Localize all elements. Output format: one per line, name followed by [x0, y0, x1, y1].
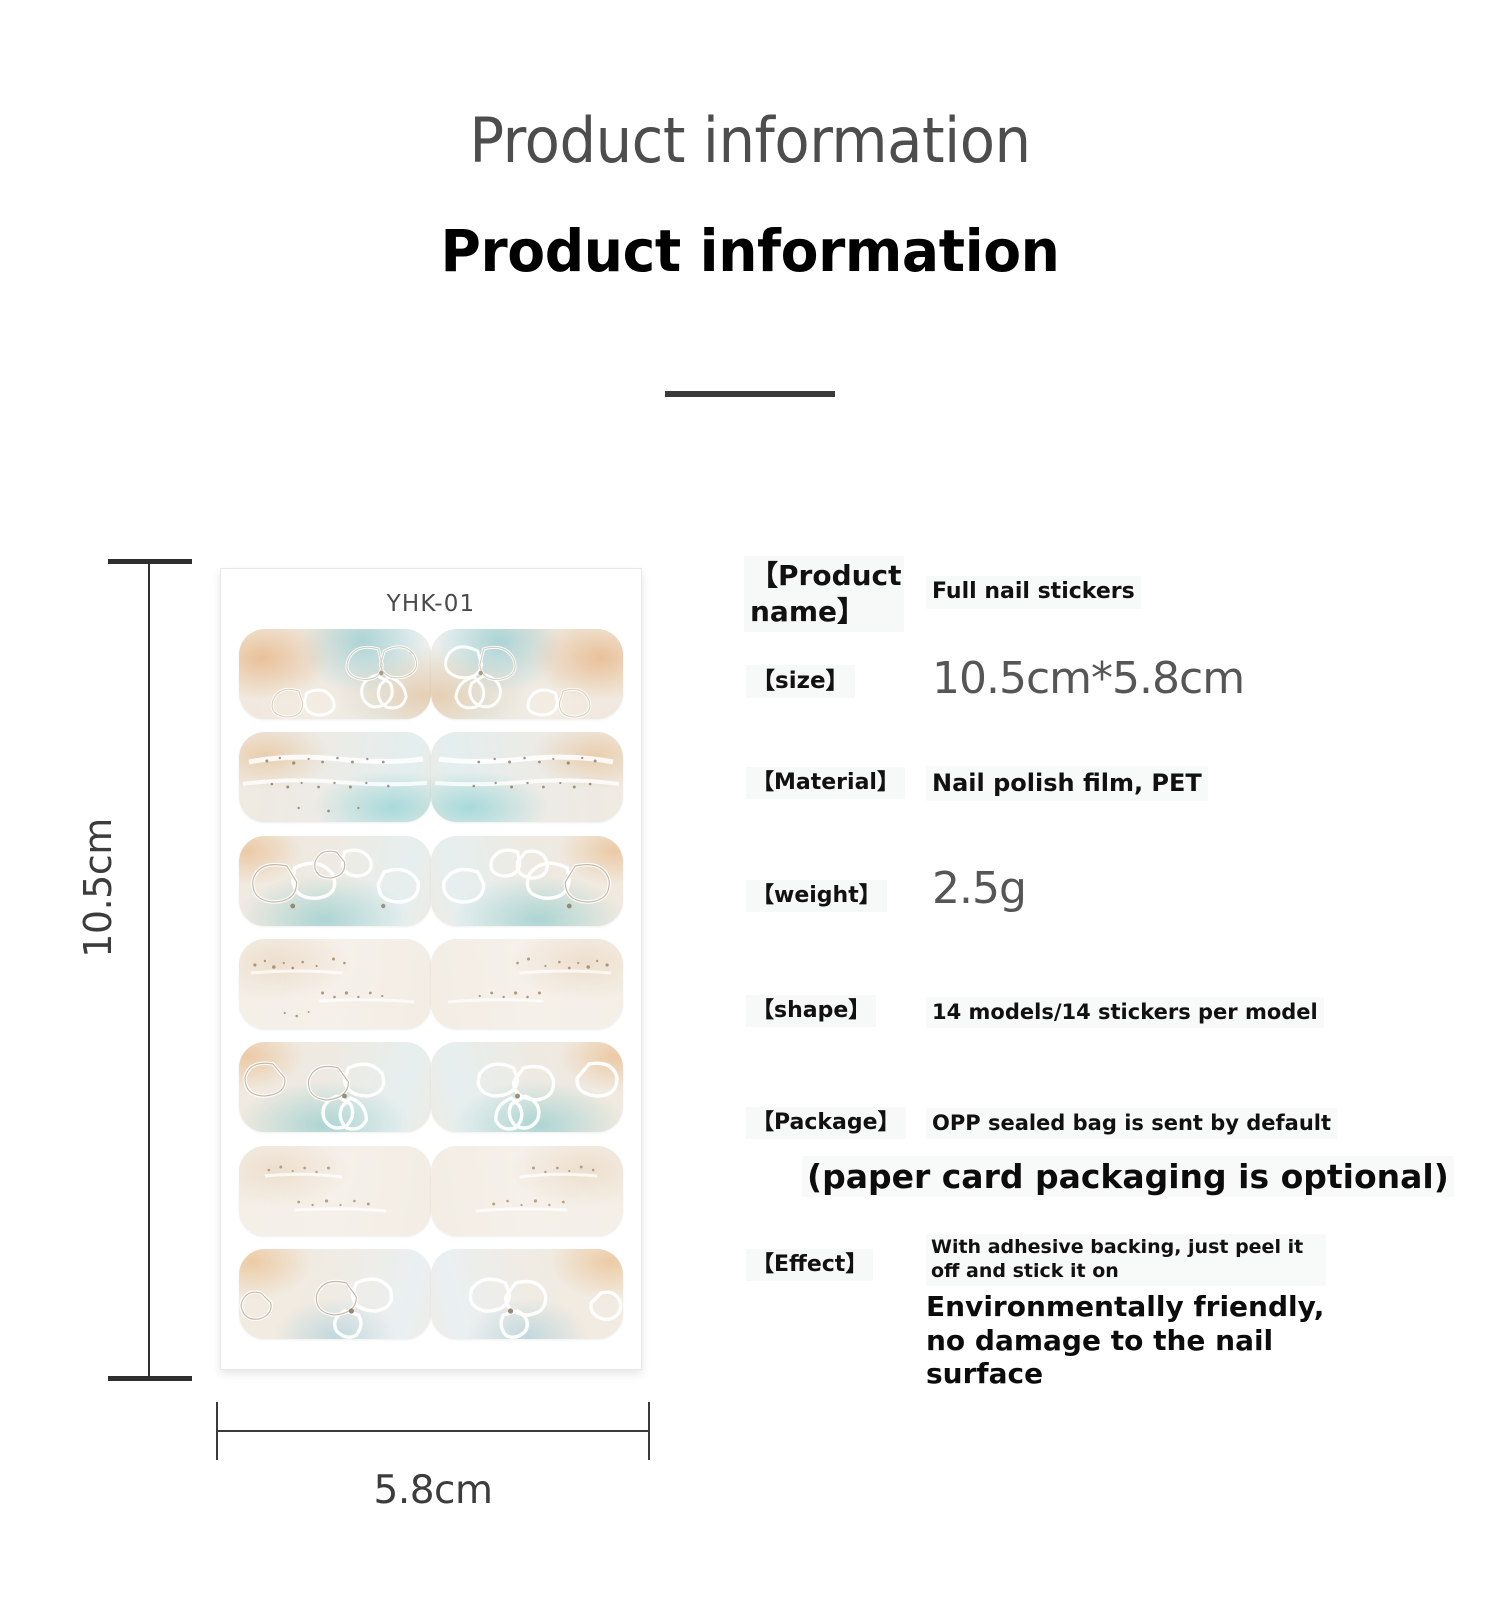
nail-sticker [431, 939, 623, 1029]
spec-label-package: 【Package】 [746, 1107, 906, 1139]
nail-sticker [239, 939, 431, 1029]
nail-sticker [239, 1249, 431, 1339]
sticker-row [239, 629, 623, 719]
product-code-label: YHK-01 [221, 591, 641, 617]
nail-sticker [239, 1146, 431, 1236]
page-header: Product information Product information [0, 0, 1500, 282]
spec-value-package: OPP sealed bag is sent by default [926, 1108, 1337, 1139]
floral-pattern-icon [239, 629, 431, 719]
floral-pattern-icon [431, 1249, 623, 1339]
spec-label-size: 【size】 [746, 665, 855, 698]
nail-sticker [431, 836, 623, 926]
nail-sticker [431, 1249, 623, 1339]
sticker-grid [239, 629, 623, 1339]
glitter-band-pattern-icon [239, 732, 431, 822]
nail-sticker [431, 629, 623, 719]
sticker-row [239, 732, 623, 822]
glitter-band-pattern-icon [431, 732, 623, 822]
dimension-cap-right [648, 1402, 650, 1460]
sticker-row [239, 1249, 623, 1339]
speckle-pattern-icon [431, 1146, 623, 1236]
dimension-cap-top [108, 559, 192, 564]
spec-value-product-name: Full nail stickers [926, 576, 1141, 609]
floral-pattern-icon [239, 1249, 431, 1339]
sticker-row [239, 1042, 623, 1132]
spec-value-effect-secondary: Environmentally friendly, no damage to t… [926, 1290, 1356, 1391]
nail-sticker [239, 629, 431, 719]
dimension-line-vertical [148, 562, 150, 1380]
speckle-pattern-icon [431, 939, 623, 1029]
dimension-label-width: 5.8cm [216, 1468, 650, 1513]
nail-sticker [239, 836, 431, 926]
spec-label-material: 【Material】 [746, 767, 905, 799]
divider-wrap [0, 384, 1500, 402]
floral-pattern-icon [431, 629, 623, 719]
dimension-cap-left [216, 1402, 218, 1460]
page-title-bold: Product information [38, 221, 1463, 282]
spec-value-effect-primary: With adhesive backing, just peel it off … [926, 1234, 1326, 1286]
spec-label-effect: 【Effect】 [746, 1249, 873, 1281]
floral-pattern-icon [239, 836, 431, 926]
sticker-row [239, 836, 623, 926]
dimension-cap-bottom [108, 1376, 192, 1381]
speckle-pattern-icon [239, 939, 431, 1029]
floral-pattern-icon [239, 1042, 431, 1132]
nail-sticker [431, 732, 623, 822]
nail-sticker [431, 1042, 623, 1132]
floral-pattern-icon [431, 836, 623, 926]
sticker-row [239, 939, 623, 1029]
spec-value-shape: 14 models/14 stickers per model [926, 997, 1324, 1028]
sticker-row [239, 1146, 623, 1236]
product-dimension-diagram: 10.5cm 5.8cm YHK-01 [0, 540, 700, 1550]
speckle-pattern-icon [239, 1146, 431, 1236]
dimension-line-horizontal [216, 1430, 648, 1432]
spec-value-material: Nail polish film, PET [926, 766, 1208, 801]
spec-note-package-option: (paper card packaging is optional) [802, 1156, 1454, 1197]
spec-value-weight: 2.5g [926, 858, 1032, 919]
page-title-light: Product information [53, 108, 1448, 173]
spec-label-shape: 【shape】 [746, 995, 876, 1027]
spec-label-weight: 【weight】 [746, 880, 887, 912]
nail-sticker [239, 732, 431, 822]
nail-sticker [431, 1146, 623, 1236]
section-divider [665, 391, 835, 397]
nail-sticker-sheet: YHK-01 [220, 568, 642, 1370]
dimension-label-height: 10.5cm [76, 778, 120, 998]
nail-sticker [239, 1042, 431, 1132]
spec-label-product-name: 【Product name】 [744, 556, 904, 632]
floral-pattern-icon [431, 1042, 623, 1132]
spec-value-size: 10.5cm*5.8cm [926, 648, 1250, 709]
